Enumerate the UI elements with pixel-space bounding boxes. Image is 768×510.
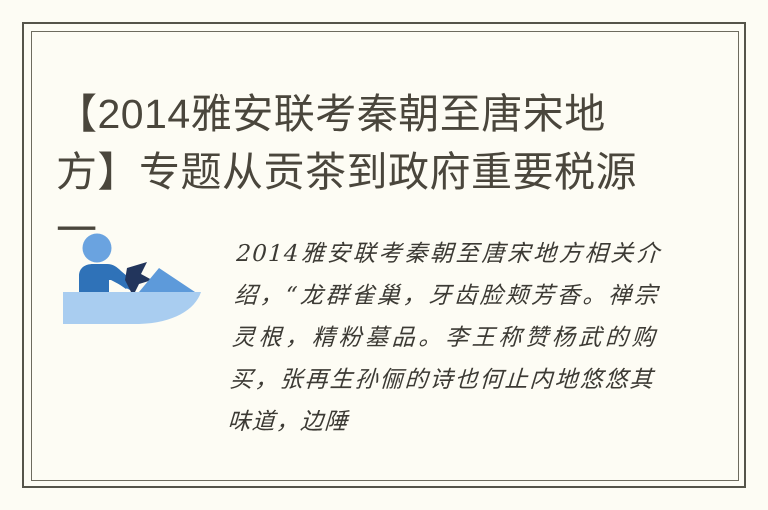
article-content: 2014雅安联考秦朝至唐宋地方相关介绍，“龙群雀巢，牙齿脸颊芳香。禅宗灵根，精粉… [0,196,768,476]
article-body: 2014雅安联考秦朝至唐宋地方相关介绍，“龙群雀巢，牙齿脸颊芳香。禅宗灵根，精粉… [226,233,661,443]
article-card: 【2014雅安联考秦朝至唐宋地方】专题从贡茶到政府重要税源一 2014雅安联考秦… [0,0,768,510]
kayaker-icon [55,228,205,328]
